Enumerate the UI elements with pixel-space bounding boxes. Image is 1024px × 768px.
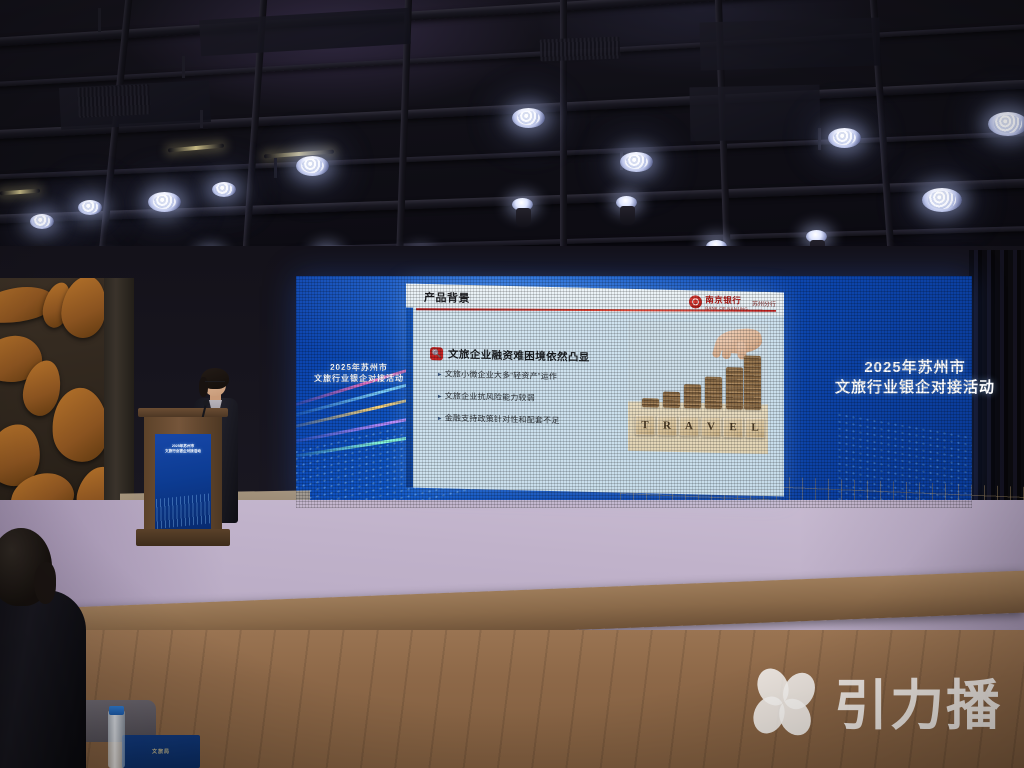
cluster-light — [30, 214, 54, 229]
conference-stage-photo: 2025年苏州市 文旅行业银企对接活动 2025年苏州市 文旅行业银企对接活动 … — [0, 0, 1024, 768]
watermark-text: 引力播 — [834, 661, 1002, 740]
presentation-slide: 产品背景 南京银行 BANK OF NANJING 苏州分行 🔍 文旅企业融资难… — [406, 284, 784, 497]
coin-stack — [705, 377, 722, 409]
travel-coins-photo: T R A V E L — [628, 321, 768, 454]
led-banner-right-line1: 2025年苏州市 — [820, 358, 1010, 378]
podium: 2025年苏州市 文旅行业银企对接活动 — [144, 408, 222, 546]
letter-block: R — [657, 415, 677, 435]
truss-beam — [0, 127, 1024, 181]
slide-bullet-item: ▸ 文旅企业抗风险能力较弱 — [438, 390, 628, 405]
podium-panel-line2: 文旅行业银企对接活动 — [159, 449, 207, 454]
cluster-light — [988, 112, 1024, 136]
cluster-light — [512, 108, 545, 128]
coin-stack — [684, 384, 701, 408]
cluster-light — [922, 188, 962, 212]
audience-body — [0, 590, 86, 768]
strip-light — [0, 189, 40, 196]
letter-block: T — [635, 415, 655, 435]
table-name-card-text: 文旅局 — [152, 748, 170, 755]
bank-logo-branch: 苏州分行 — [752, 299, 776, 309]
slide-bullet-list: ▸ 文旅小微企业大多“轻资产”运作 ▸ 文旅企业抗风险能力较弱 ▸ 金融支持政策… — [438, 368, 628, 438]
audience-member — [0, 528, 114, 768]
podium-body: 2025年苏州市 文旅行业银企对接活动 — [144, 417, 222, 529]
ceiling-panel — [699, 17, 880, 70]
truss-drop — [182, 56, 185, 78]
slide-bullet-text: 文旅企业抗风险能力较弱 — [445, 390, 535, 403]
coin-stack — [663, 392, 680, 408]
cluster-light — [212, 182, 236, 197]
led-banner-right: 2025年苏州市 文旅行业银企对接活动 — [820, 358, 1010, 399]
podium-base — [136, 529, 230, 546]
bank-logo: 南京银行 BANK OF NANJING 苏州分行 — [689, 293, 776, 312]
led-banner-left-line2: 文旅行业银企对接活动 — [304, 374, 414, 385]
water-bottle — [108, 710, 125, 768]
magnifier-icon: 🔍 — [430, 347, 443, 360]
audience-hair — [0, 528, 52, 606]
led-banner-left: 2025年苏州市 文旅行业银企对接活动 — [304, 363, 414, 385]
bank-rosette-icon — [689, 295, 702, 308]
watermark: 引力播 — [754, 661, 1002, 740]
slide-left-accent-bar — [406, 284, 413, 488]
ceiling-panel — [689, 85, 820, 142]
coin-stack — [642, 398, 659, 407]
par-can-light — [516, 208, 531, 227]
letter-block: V — [701, 416, 721, 436]
truss-drop — [98, 8, 101, 32]
cluster-light — [78, 200, 102, 215]
strip-light — [168, 144, 224, 153]
table-name-card: 文旅局 — [122, 735, 200, 768]
led-banner-left-line1: 2025年苏州市 — [304, 363, 414, 374]
bank-logo-name: 南京银行 BANK OF NANJING — [705, 294, 748, 312]
slide-bullet-item: ▸ 金融支持政策针对性和配套不足 — [438, 412, 628, 427]
cluster-light — [148, 192, 181, 212]
pinwheel-logo-icon — [754, 668, 820, 734]
par-can-light — [620, 206, 635, 225]
water-bottle-cap — [109, 706, 124, 715]
slide-bullet-item: ▸ 文旅小微企业大多“轻资产”运作 — [438, 368, 628, 383]
slide-bullet-text: 金融支持政策针对性和配套不足 — [445, 412, 560, 426]
podium-front-panel: 2025年苏州市 文旅行业银企对接活动 — [155, 434, 211, 530]
slide-bullet-text: 文旅小微企业大多“轻资产”运作 — [445, 368, 557, 382]
ceiling-speaker-icon — [77, 84, 150, 118]
coin-stack — [726, 367, 743, 409]
lighting-control-box-icon — [540, 37, 621, 62]
chevron-right-icon: ▸ — [438, 370, 442, 378]
ceiling-panel — [199, 8, 411, 56]
podium-top — [138, 408, 228, 417]
slide-section-heading-text: 文旅企业融资难困境依然凸显 — [448, 347, 590, 365]
chevron-right-icon: ▸ — [438, 414, 442, 422]
bank-logo-pinyin: BANK OF NANJING — [705, 306, 748, 312]
speaker-hair — [199, 377, 208, 397]
letter-block: E — [723, 417, 743, 437]
coin-stack — [744, 356, 761, 410]
slide-title: 产品背景 — [424, 289, 470, 306]
truss-drop — [818, 128, 821, 150]
truss-drop — [274, 158, 277, 178]
cluster-light — [296, 156, 329, 176]
slide-section-heading: 🔍 文旅企业融资难困境依然凸显 — [430, 346, 590, 365]
letter-block: A — [679, 416, 699, 436]
cluster-light — [828, 128, 861, 148]
cluster-light — [620, 152, 653, 172]
chevron-right-icon: ▸ — [438, 392, 442, 400]
glasses-icon — [205, 381, 225, 387]
truss-drop — [200, 110, 203, 128]
led-banner-right-line2: 文旅行业银企对接活动 — [820, 378, 1010, 398]
podium-panel-text: 2025年苏州市 文旅行业银企对接活动 — [159, 444, 207, 455]
letter-block: L — [745, 418, 765, 438]
